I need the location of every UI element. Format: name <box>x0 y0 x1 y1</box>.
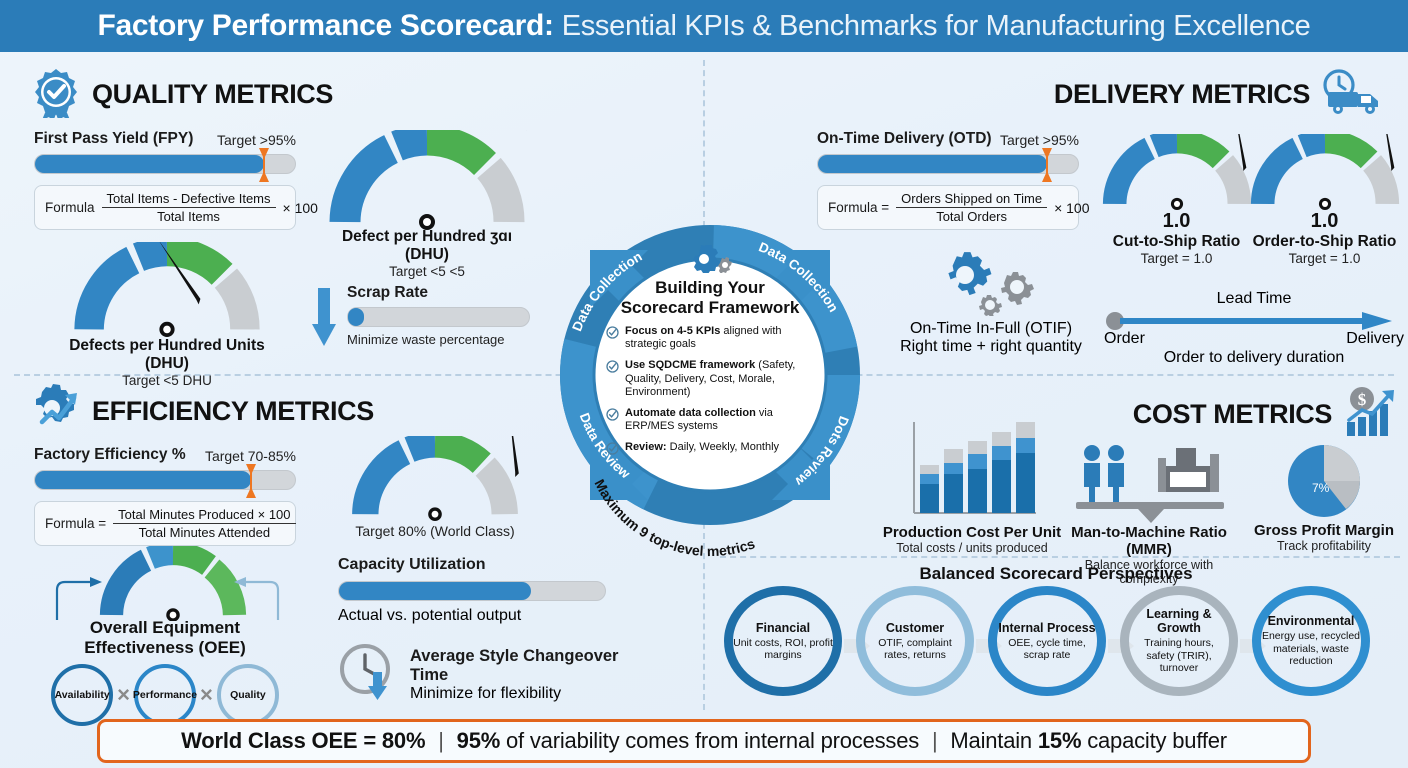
svg-text:$: $ <box>1358 390 1367 409</box>
quality-section-title: QUALITY METRICS <box>92 79 333 110</box>
clock-down-arrow-icon <box>338 642 400 707</box>
fpy-formula-multiplier: × 100 <box>283 200 318 216</box>
dhu-bottom-gauge-block: Defects per Hundred Units (DHU) Target <… <box>62 242 272 388</box>
changeover-block: Average Style Changeover Time Minimize f… <box>338 642 658 707</box>
oee-operator-1: × <box>117 682 130 708</box>
capacity-fill <box>339 582 531 600</box>
pie-slice-label: 7% <box>1312 481 1330 495</box>
capacity-bar[interactable] <box>338 581 606 601</box>
cut-to-ship-gauge <box>1101 134 1253 210</box>
lead-time-arrow <box>1104 312 1404 328</box>
bsc-node-name: Customer <box>886 621 944 635</box>
fpy-formula-denominator: Total Items <box>152 208 225 224</box>
fpy-progress-bar[interactable] <box>34 154 296 174</box>
order-to-ship-block: 1.0 Order-to-Ship Ratio Target = 1.0 <box>1242 134 1407 266</box>
stacked-bar-chart-icon <box>882 416 1062 524</box>
oee-availability-label: Availability <box>55 689 110 701</box>
dollar-growth-icon: $ <box>1342 386 1400 443</box>
balanced-scorecard-section: Balanced Scorecard Perspectives Financia… <box>704 560 1408 712</box>
changeover-sub: Minimize for flexibility <box>410 685 658 703</box>
fpy-formula-box: Formula Total Items - Defective Items To… <box>34 185 296 230</box>
factory-eff-bar[interactable] <box>34 470 296 490</box>
oee-operator-2: × <box>200 682 213 708</box>
otd-target-marker <box>1042 148 1052 182</box>
gross-profit-sub: Track profitability <box>1244 539 1404 553</box>
order-to-ship-title: Order-to-Ship Ratio <box>1242 233 1407 251</box>
framework-bullet: Automate data collection via ERP/MES sys… <box>606 407 814 433</box>
bsc-node-desc: OTIF, complaint rates, returns <box>865 637 965 662</box>
scrap-rate-bar[interactable] <box>347 307 530 327</box>
scrap-rate-fill <box>348 308 364 326</box>
cost-section-title: COST METRICS <box>1133 399 1332 430</box>
bsc-node-internal-process[interactable]: Internal Process OEE, cycle time, scrap … <box>988 586 1106 696</box>
framework-bullet: Review: Daily, Weekly, Monthly <box>606 441 814 455</box>
production-cost-block: Production Cost Per Unit Total costs / u… <box>882 416 1062 555</box>
people-machine-balance-icon <box>1054 440 1244 524</box>
mmr-title: Man-to-Machine Ratio (MMR) <box>1054 524 1244 558</box>
scrap-rate-label: Scrap Rate <box>347 284 530 302</box>
lead-time-start-label: Order <box>1104 330 1145 348</box>
cut-to-ship-value: 1.0 <box>1094 210 1259 233</box>
framework-bullet: Focus on 4-5 KPIs aligned with strategic… <box>606 325 814 351</box>
footer-seg2-rest: of variability comes from internal proce… <box>500 728 919 753</box>
cut-to-ship-target: Target = 1.0 <box>1094 251 1259 266</box>
page-title-bold: Factory Performance Scorecard: <box>97 9 553 43</box>
bsc-node-desc: Energy use, recycled materials, waste re… <box>1261 630 1361 667</box>
oee-title-line2: Effectiveness (OEE) <box>10 638 320 658</box>
production-cost-sub: Total costs / units produced <box>882 541 1062 555</box>
world-class-caption: Target 80% (World Class) <box>330 523 540 539</box>
gears-icon <box>896 250 1086 316</box>
oee-component-availability: Availability <box>51 664 113 726</box>
lead-time-block: Lead Time Order Delivery Order to delive… <box>1104 290 1404 367</box>
factory-eff-formula-label: Formula = <box>45 516 106 531</box>
gear-trend-icon <box>30 384 82 439</box>
otif-title: On-Time In-Full (OTIF) <box>896 320 1086 338</box>
bsc-node-customer[interactable]: Customer OTIF, complaint rates, returns <box>856 586 974 696</box>
oee-connector-arrows <box>10 546 320 620</box>
otif-block: On-Time In-Full (OTIF) Right time + righ… <box>896 250 1086 356</box>
lead-time-sub: Order to delivery duration <box>1104 349 1404 367</box>
production-cost-title: Production Cost Per Unit <box>882 524 1062 541</box>
framework-gears-icon <box>606 245 814 278</box>
dhu-top-gauge <box>327 130 527 230</box>
oee-block: Overall Equipment Effectiveness (OEE) Av… <box>10 546 320 726</box>
down-arrow-icon <box>310 288 338 353</box>
efficiency-section-title: EFFICIENCY METRICS <box>92 396 374 427</box>
check-circle-icon <box>606 408 619 421</box>
check-circle-icon <box>606 360 619 373</box>
order-to-ship-target: Target = 1.0 <box>1242 251 1407 266</box>
framework-bullet-rest: Daily, Weekly, Monthly <box>667 441 779 453</box>
cost-heading: COST METRICS $ <box>1133 386 1400 443</box>
framework-bullet-bold: Automate data collection <box>625 407 756 419</box>
dhu-top-title: Defect per Hundred ʒɑı (DHU) <box>322 228 532 264</box>
order-to-ship-gauge <box>1249 134 1401 210</box>
framework-title-line2: Scorecard Framework <box>606 298 814 318</box>
page-header: Factory Performance Scorecard: Essential… <box>0 0 1408 52</box>
footer-sep-1: | <box>431 728 451 753</box>
dhu-bottom-gauge <box>72 242 262 337</box>
world-class-block: Target 80% (World Class) <box>330 436 540 539</box>
bsc-node-name: Environmental <box>1268 614 1355 628</box>
factory-eff-numerator: Total Minutes Produced × 100 <box>113 507 295 524</box>
bsc-node-name: Financial <box>756 621 810 635</box>
bsc-node-name: Learning & Growth <box>1129 607 1229 635</box>
cut-to-ship-block: 1.0 Cut-to-Ship Ratio Target = 1.0 <box>1094 134 1259 266</box>
factory-eff-formula-box: Formula = Total Minutes Produced × 100 T… <box>34 501 296 546</box>
fpy-label: First Pass Yield (FPY) <box>34 130 193 148</box>
bsc-node-desc: OEE, cycle time, scrap rate <box>997 637 1097 662</box>
clock-truck-icon <box>1320 68 1390 121</box>
bsc-node-learning-growth[interactable]: Learning & Growth Training hours, safety… <box>1120 586 1238 696</box>
bsc-node-desc: Training hours, safety (TRIR), turnover <box>1129 637 1229 674</box>
factory-eff-row: Factory Efficiency % Target 70-85% <box>34 446 296 464</box>
framework-bullet: Use SQDCME framework (Safety, Quality, D… <box>606 359 814 399</box>
delivery-section-title: DELIVERY METRICS <box>1054 79 1310 110</box>
quality-badge-icon <box>30 66 82 123</box>
factory-eff-fill <box>35 471 251 489</box>
framework-circle: Data Collection Data Collection Data Rev… <box>520 190 900 560</box>
pie-chart-icon: 7% <box>1244 440 1404 522</box>
gross-profit-title: Gross Profit Margin <box>1244 522 1404 539</box>
changeover-title: Average Style Changeover Time <box>410 647 658 685</box>
otd-formula-denominator: Total Orders <box>931 208 1012 224</box>
bsc-node-financial[interactable]: Financial Unit costs, ROI, profit margin… <box>724 586 842 696</box>
framework-bullet-bold: Review: <box>625 441 667 453</box>
otd-progress-bar[interactable] <box>817 154 1079 174</box>
framework-bullet-bold: Use SQDCME framework <box>625 359 755 371</box>
efficiency-heading: EFFICIENCY METRICS <box>30 384 374 439</box>
check-circle-icon <box>606 326 619 339</box>
world-class-gauge <box>350 436 520 521</box>
lead-time-title: Lead Time <box>1104 290 1404 308</box>
cut-to-ship-title: Cut-to-Ship Ratio <box>1094 233 1259 251</box>
otd-row: On-Time Delivery (OTD) Target >95% <box>817 130 1079 148</box>
otd-formula-multiplier: × 100 <box>1054 200 1089 216</box>
capacity-sub: Actual vs. potential output <box>338 607 606 625</box>
dhu-top-gauge-block: Defect per Hundred ʒɑı (DHU) Target <5 <… <box>322 130 532 279</box>
factory-eff-marker <box>246 464 256 498</box>
footer-seg1: World Class OEE = 80% <box>181 728 425 753</box>
lead-time-end-label: Delivery <box>1346 330 1404 348</box>
factory-eff-label: Factory Efficiency % <box>34 446 186 464</box>
bsc-title: Balanced Scorecard Perspectives <box>704 564 1408 584</box>
dhu-bottom-title: Defects per Hundred Units (DHU) <box>62 337 272 373</box>
bsc-node-name: Internal Process <box>998 621 1095 635</box>
factory-eff-target: Target 70-85% <box>205 448 296 464</box>
fpy-progress-fill <box>35 155 264 173</box>
oee-performance-label: Performance <box>133 689 197 701</box>
footer-banner: World Class OEE = 80% | 95% of variabili… <box>97 719 1311 763</box>
otif-sub: Right time + right quantity <box>896 338 1086 356</box>
framework-title-line1: Building Your <box>606 278 814 298</box>
delivery-heading: DELIVERY METRICS <box>1054 68 1390 121</box>
oee-component-quality: Quality <box>217 664 279 726</box>
footer-seg3-pre: Maintain <box>950 728 1037 753</box>
scrap-rate-sub: Minimize waste percentage <box>347 332 530 347</box>
fpy-target: Target >95% <box>217 132 296 148</box>
footer-seg2-bold: 95% <box>457 728 500 753</box>
fpy-row: First Pass Yield (FPY) Target >95% <box>34 130 296 148</box>
otd-progress-fill <box>818 155 1047 173</box>
gross-profit-block: 7% Gross Profit Margin Track profitabili… <box>1244 440 1404 553</box>
fpy-target-marker <box>259 148 269 182</box>
dhu-top-target: Target <5 <5 <box>322 264 532 279</box>
otd-formula-numerator: Orders Shipped on Time <box>896 191 1047 208</box>
factory-eff-denominator: Total Minutes Attended <box>134 524 276 540</box>
fpy-formula-label: Formula <box>45 200 95 215</box>
otd-target: Target >95% <box>1000 132 1079 148</box>
bsc-node-desc: Unit costs, ROI, profit margins <box>733 637 833 662</box>
footer-sep-2: | <box>925 728 945 753</box>
footer-seg3-bold: 15% <box>1038 728 1081 753</box>
order-to-ship-value: 1.0 <box>1242 210 1407 233</box>
scrap-rate-block: Scrap Rate Minimize waste percentage <box>310 284 530 353</box>
bsc-node-environmental[interactable]: Environmental Energy use, recycled mater… <box>1252 586 1370 696</box>
oee-component-performance: Performance <box>134 664 196 726</box>
quality-heading: QUALITY METRICS <box>30 66 333 123</box>
check-circle-icon <box>606 442 619 455</box>
oee-title-line1: Overall Equipment <box>10 618 320 638</box>
page-title-rest: Essential KPIs & Benchmarks for Manufact… <box>562 10 1311 43</box>
footer-seg3-rest: capacity buffer <box>1081 728 1227 753</box>
otd-label: On-Time Delivery (OTD) <box>817 130 992 148</box>
capacity-block: Capacity Utilization Actual vs. potentia… <box>338 556 606 625</box>
framework-bullet-bold: Focus on 4-5 KPIs <box>625 325 720 337</box>
oee-quality-label: Quality <box>230 689 266 701</box>
fpy-formula-numerator: Total Items - Defective Items <box>102 191 276 208</box>
